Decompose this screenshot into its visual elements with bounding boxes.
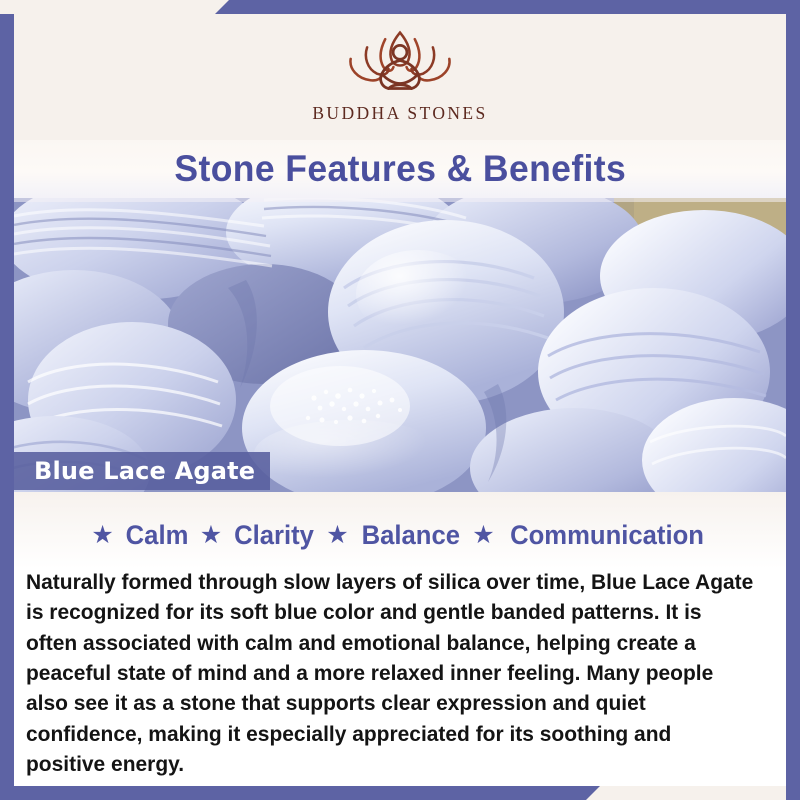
star-icon-4: ★	[472, 523, 494, 548]
frame-border-right	[786, 0, 800, 800]
stone-photo-artwork	[14, 192, 786, 492]
keyword-communication: Communication	[510, 520, 704, 551]
brand-name: BUDDHA STONES	[312, 103, 487, 124]
star-icon-1: ★	[91, 523, 113, 548]
title-banner: Stone Features & Benefits	[14, 140, 786, 198]
frame-border-bottom	[0, 786, 600, 800]
stone-name: Blue Lace Agate	[14, 457, 255, 485]
brand-logo: BUDDHA STONES	[14, 14, 786, 142]
star-icon-2: ★	[200, 523, 222, 548]
keyword-calm: Calm	[125, 520, 188, 551]
poster-inner: BUDDHA STONES Stone Features & Benefits	[14, 14, 786, 786]
keyword-balance: Balance	[361, 520, 459, 551]
content-panel: ★ Calm ★ Clarity ★ Balance ★ Communicati…	[14, 492, 786, 786]
frame-border-left	[0, 14, 14, 800]
poster-root: BUDDHA STONES Stone Features & Benefits	[0, 0, 800, 800]
stone-photo	[14, 192, 786, 492]
star-icon-3: ★	[326, 523, 348, 548]
frame-border-top	[215, 0, 800, 14]
keyword-clarity: Clarity	[234, 520, 314, 551]
page-title: Stone Features & Benefits	[174, 148, 626, 190]
stone-name-bar: Blue Lace Agate	[14, 452, 270, 490]
lotus-meditation-figure-icon	[334, 26, 466, 100]
benefit-keywords: ★ Calm ★ Clarity ★ Balance ★ Communicati…	[14, 492, 786, 551]
stone-description: Naturally formed through slow layers of …	[26, 567, 755, 779]
